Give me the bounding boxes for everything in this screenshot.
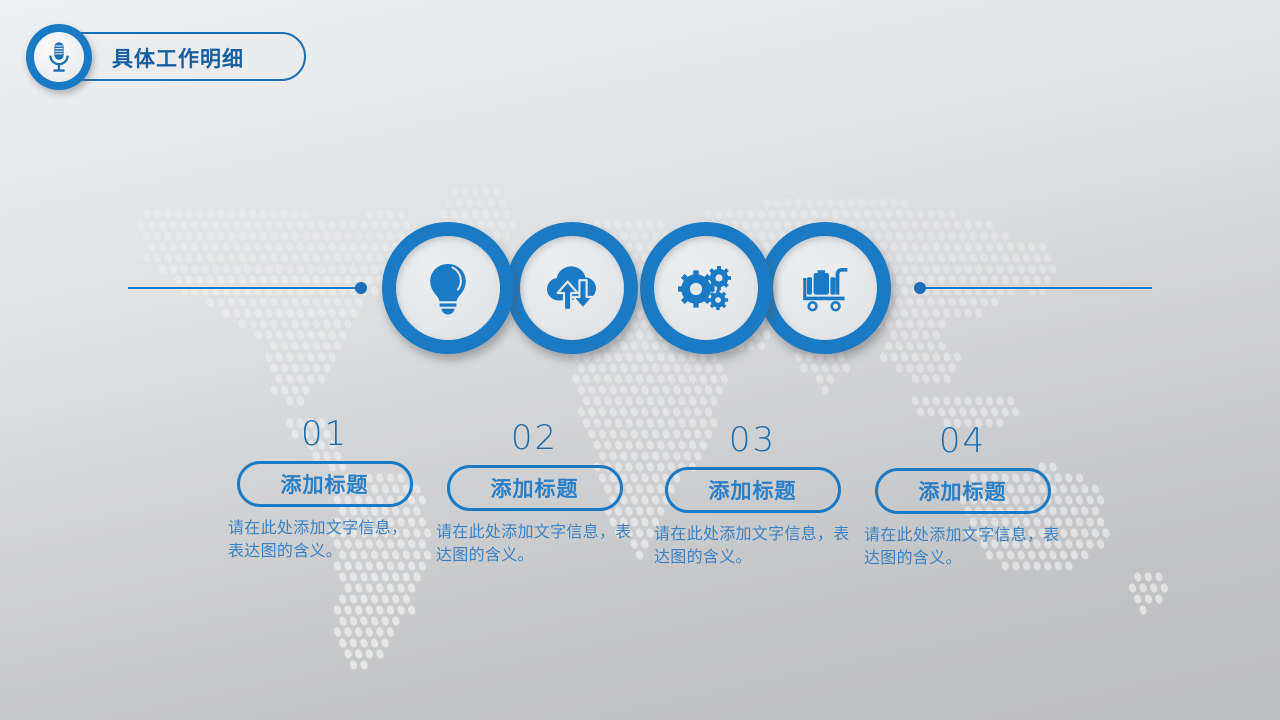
column-3: 03 添加标题 请在此处添加文字信息，表达图的含义。	[650, 420, 855, 569]
page-title: 具体工作明细	[112, 43, 244, 73]
column-3-number: 03	[650, 420, 855, 460]
column-3-title-label: 添加标题	[709, 475, 797, 505]
header: 具体工作明细	[14, 24, 314, 90]
node-circle-3-inner	[654, 236, 758, 340]
column-3-title-button[interactable]: 添加标题	[665, 467, 841, 513]
column-3-body: 请在此处添加文字信息，表达图的含义。	[650, 523, 855, 569]
column-2-title-label: 添加标题	[491, 473, 579, 503]
connector-line-left	[128, 287, 360, 289]
connector-dot-right	[914, 282, 926, 294]
node-circle-3[interactable]	[640, 222, 772, 354]
cloud-sync-icon	[543, 262, 601, 314]
node-circle-2-inner	[520, 236, 624, 340]
connector-line-right	[920, 287, 1152, 289]
column-1: 01 添加标题 请在此处添加文字信息，表达图的含义。	[222, 414, 427, 563]
header-badge-inner	[34, 32, 84, 82]
node-circle-4-inner	[773, 236, 877, 340]
microphone-icon	[46, 41, 72, 73]
node-circle-1[interactable]	[382, 222, 514, 354]
luggage-cart-icon	[797, 264, 853, 312]
gears-icon	[678, 263, 734, 313]
column-1-number: 01	[222, 414, 427, 454]
column-1-title-label: 添加标题	[281, 469, 369, 499]
slide-canvas: 具体工作明细	[0, 0, 1280, 720]
column-1-title-button[interactable]: 添加标题	[237, 461, 413, 507]
node-circle-1-inner	[396, 236, 500, 340]
column-2: 02 添加标题 请在此处添加文字信息，表达图的含义。	[432, 418, 637, 567]
connector-dot-left	[355, 282, 367, 294]
lightbulb-icon	[422, 260, 474, 316]
node-circle-2[interactable]	[506, 222, 638, 354]
column-2-number: 02	[432, 418, 637, 458]
header-badge	[26, 24, 92, 90]
node-circle-4[interactable]	[759, 222, 891, 354]
column-4-title-label: 添加标题	[919, 476, 1007, 506]
column-4-title-button[interactable]: 添加标题	[875, 468, 1051, 514]
column-2-title-button[interactable]: 添加标题	[447, 465, 623, 511]
column-4: 04 添加标题 请在此处添加文字信息，表达图的含义。	[860, 421, 1065, 570]
column-4-number: 04	[860, 421, 1065, 461]
column-1-body: 请在此处添加文字信息，表达图的含义。	[222, 517, 427, 563]
column-4-body: 请在此处添加文字信息，表达图的含义。	[860, 524, 1065, 570]
column-2-body: 请在此处添加文字信息，表达图的含义。	[432, 521, 637, 567]
